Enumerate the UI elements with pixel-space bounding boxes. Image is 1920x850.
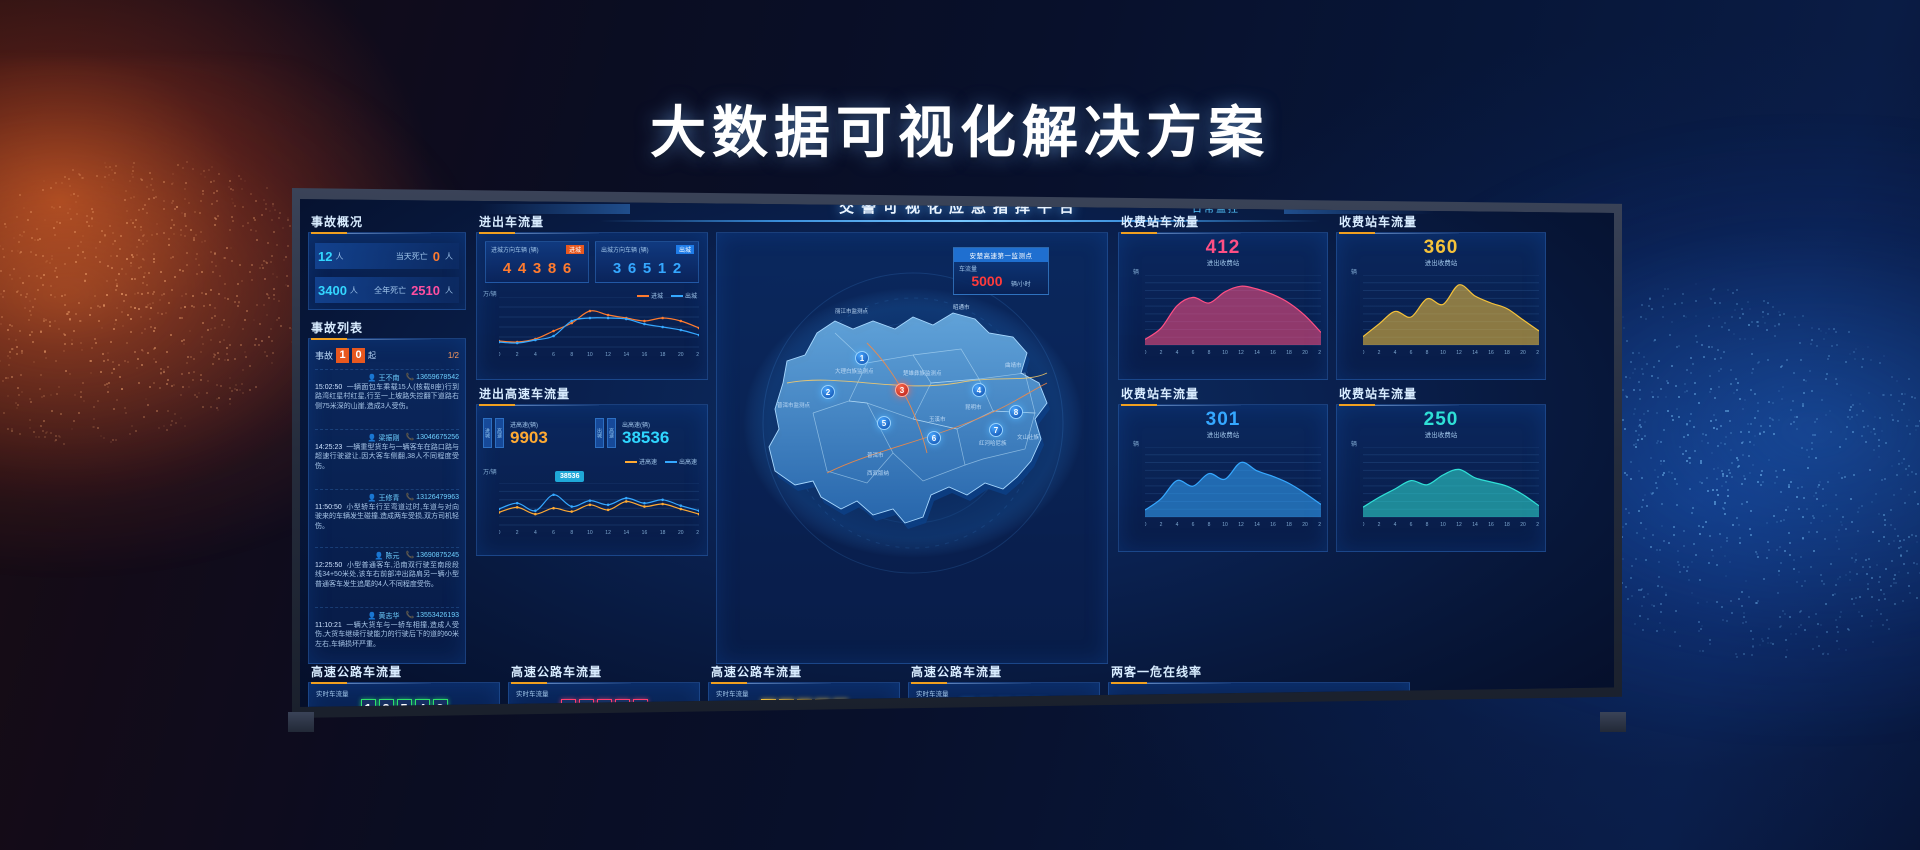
svg-text:4: 4 (534, 530, 537, 536)
digit-3: 1 (655, 260, 670, 277)
svg-text:10: 10 (587, 352, 593, 358)
digit-4: 2 (670, 260, 685, 277)
panel-title-toll-2: 收费站车流量 (1339, 213, 1417, 230)
svg-text:18: 18 (1286, 350, 1292, 356)
accident-description: 11:10:21 一辆大货车与一轿车相撞,造成人受伤,大货车继续行驶能力的行驶后… (315, 621, 459, 649)
toll-2-readout: 360 进出收费站 (1337, 237, 1545, 267)
svg-text:2: 2 (1160, 522, 1163, 528)
svg-text:14: 14 (1472, 350, 1478, 356)
svg-text:4: 4 (534, 352, 537, 358)
highway-out-chip-1: 出城 (595, 418, 604, 448)
svg-text:8: 8 (1208, 522, 1211, 528)
svg-text:14: 14 (1472, 522, 1478, 528)
svg-text:12: 12 (1456, 522, 1462, 528)
panel-title-highway-2: 高速公路车流量 (511, 663, 602, 680)
inout-hw-y-unit: 万/辆 (483, 467, 497, 476)
svg-text:4: 4 (1176, 522, 1179, 528)
svg-text:20: 20 (1520, 350, 1526, 356)
toll-4-label: 进出收费站 (1337, 429, 1545, 439)
panel-title-inout-flow: 进出车流量 (479, 213, 544, 230)
toll-2-y-unit: 辆 (1351, 267, 1357, 276)
highway-chart-tooltip: 38536 (555, 471, 584, 482)
inout-highway-legend: 进高速出高速 (625, 457, 697, 466)
toll-3-value: 301 (1206, 409, 1241, 430)
map-tooltip-label: 车流量 (954, 262, 1048, 273)
map-region-label: 文山壮族 (1017, 433, 1039, 441)
chart-line (499, 318, 699, 343)
map-region-label: 大理白族监测点 (835, 367, 874, 375)
accident-description: 14:25:23 一辆重型货车与一辆客车在路口路与超速行驶避让,因大客车侧翻,3… (315, 443, 459, 471)
svg-text:14: 14 (1254, 522, 1260, 528)
map-tooltip-unit: 辆/小时 (1011, 282, 1031, 288)
svg-text:12: 12 (1238, 522, 1244, 528)
map-marker-8[interactable]: 8 (1009, 405, 1023, 419)
legend-item: 进高速 (625, 457, 657, 466)
svg-text:22: 22 (1318, 350, 1321, 356)
toll-3-readout: 301 进出收费站 (1119, 409, 1327, 439)
inout-highway-chart: 5432100246810121416182022时 (499, 483, 699, 537)
accident-list-item[interactable]: 👤 王不南📞 1365967854215:02:50 一辆面包车乘载15人(核载… (315, 369, 459, 411)
accident-reporter: 👤 黄志华 (368, 611, 400, 621)
svg-text:10: 10 (1440, 522, 1446, 528)
toll-2-label: 进出收费站 (1337, 257, 1545, 267)
highway-in-value: 9903 (510, 429, 548, 446)
dashboard: 交警可视化应急指挥平台 日常监控 南山 ☁ ■ 2018-0 事故概况 12 人… (300, 196, 1614, 710)
highway-out-chip-2: 高速 (607, 418, 616, 448)
svg-text:14: 14 (623, 352, 629, 358)
outbound-vehicle-box: 出城方向车辆 (辆) 出城 36512 (595, 241, 699, 283)
map-marker-6[interactable]: 6 (927, 431, 941, 445)
chartToll0-svg: 5004504003503002502001501005002468101214… (1145, 275, 1321, 357)
accident-phone: 📞 13659678542 (406, 373, 459, 383)
svg-text:14: 14 (1254, 350, 1260, 356)
chartToll1-svg: 5004504003503002502001501005002468101214… (1363, 275, 1539, 357)
svg-text:20: 20 (678, 530, 684, 536)
svg-text:6: 6 (552, 352, 555, 358)
panel-inout-flow: 进出车流量 进城方向车辆 (辆) 进城 44386 出城方向车辆 (辆) 出城 … (476, 232, 708, 380)
toll-4-readout: 250 进出收费站 (1337, 409, 1545, 439)
accident-list-header: 事故 1 0 起 1/2 (315, 345, 459, 365)
svg-text:16: 16 (642, 352, 648, 358)
accident-list-item[interactable]: 👤 梁振刚📞 1304667525614:25:23 一辆重型货车与一辆客车在路… (315, 429, 459, 471)
chartInoutHw-svg: 5432100246810121416182022时 (499, 483, 699, 537)
map-region-label: 红河哈尼族 (979, 439, 1007, 447)
panel-title-highway-4: 高速公路车流量 (911, 663, 1002, 680)
chartToll2-svg: 5004504003503002502001501005002468101214… (1145, 447, 1321, 529)
svg-text:12: 12 (605, 352, 611, 358)
svg-text:18: 18 (660, 530, 666, 536)
svg-text:2: 2 (516, 530, 519, 536)
accident-count-digit-1: 0 (352, 348, 365, 363)
svg-text:12: 12 (1456, 350, 1462, 356)
panel-title-highway-1: 高速公路车流量 (311, 663, 402, 680)
svg-text:10: 10 (1222, 350, 1228, 356)
panel-title-toll-1: 收费站车流量 (1121, 213, 1199, 230)
map-tooltip-value: 5000 (971, 273, 1002, 289)
svg-text:18: 18 (1286, 522, 1292, 528)
map-region-label: 曲靖市 (1005, 361, 1022, 369)
svg-text:2: 2 (1378, 522, 1381, 528)
svg-text:10: 10 (1440, 350, 1446, 356)
toll-4-value: 250 (1424, 409, 1459, 430)
svg-text:20: 20 (1302, 522, 1308, 528)
panel-title-toll-3: 收费站车流量 (1121, 385, 1199, 402)
map-region-label: 昭通市 (953, 303, 970, 311)
highway-2-realtime-label: 实时车流量 (516, 688, 549, 698)
wall-stand-left (288, 712, 314, 732)
svg-text:8: 8 (570, 530, 573, 536)
panel-accident-overview: 事故概况 12 人 当天死亡 0 人 3400 人 全年死亡 2510 (308, 232, 466, 310)
svg-text:22: 22 (696, 352, 699, 358)
accident-overview-row-year: 3400 人 全年死亡 2510 人 (315, 277, 459, 303)
digit-2: 5 (640, 260, 655, 277)
svg-text:2: 2 (1160, 350, 1163, 356)
map-tooltip-title: 安楚高速第一监测点 (954, 248, 1048, 262)
accident-description: 12:25:50 小型普通客车,沿南双行驶至南段段线34+50米处,该车右前部冲… (315, 561, 459, 589)
svg-text:8: 8 (1426, 522, 1429, 528)
svg-text:0: 0 (1363, 350, 1365, 356)
svg-text:18: 18 (1504, 350, 1510, 356)
svg-text:14: 14 (623, 530, 629, 536)
svg-text:0: 0 (1145, 522, 1147, 528)
toll-1-value: 412 (1206, 237, 1241, 258)
page-title: 大数据可视化解决方案 (650, 88, 1270, 169)
video-wall-screen: 交警可视化应急指挥平台 日常监控 南山 ☁ ■ 2018-0 事故概况 12 人… (300, 196, 1614, 710)
svg-text:16: 16 (1488, 522, 1494, 528)
inbound-digits: 44386 (486, 260, 588, 278)
year-injured-count: 3400 (318, 283, 347, 298)
svg-text:16: 16 (1270, 350, 1276, 356)
year-dead-unit: 人 (445, 285, 453, 296)
svg-text:4: 4 (1176, 350, 1179, 356)
map-region-label: 丽江市监测点 (835, 307, 868, 315)
map-marker-4[interactable]: 4 (972, 383, 986, 397)
accident-overview-row-today: 12 人 当天死亡 0 人 (315, 243, 459, 269)
today-dead-count: 0 (433, 249, 440, 264)
svg-text:12: 12 (1238, 350, 1244, 356)
video-wall: 交警可视化应急指挥平台 日常监控 南山 ☁ ■ 2018-0 事故概况 12 人… (292, 188, 1622, 718)
digit-1: 4 (515, 260, 530, 277)
today-injured-count: 12 (318, 249, 332, 264)
svg-text:2: 2 (516, 352, 519, 358)
digit-1: 6 (625, 260, 640, 277)
toll-3-label: 进出收费站 (1119, 429, 1327, 439)
chart-area (1145, 286, 1321, 345)
svg-text:4: 4 (1394, 350, 1397, 356)
year-injured-unit: 人 (350, 285, 358, 296)
panel-toll-station-1: 收费站车流量 412 进出收费站 辆 500450400350300250200… (1118, 232, 1328, 380)
panel-map: 安楚高速第一监测点 车流量 5000 辆/小时 12345678 丽江市监测点昭… (716, 232, 1108, 664)
toll-4-chart: 5004504003503002502001501005002468101214… (1363, 447, 1539, 529)
svg-text:12: 12 (605, 530, 611, 536)
svg-text:8: 8 (1208, 350, 1211, 356)
accident-list-item[interactable]: 👤 陈元📞 1369087524512:25:50 小型普通客车,沿南双行驶至南… (315, 547, 459, 589)
panel-title-highway-3: 高速公路车流量 (711, 663, 802, 680)
legend-item: 出高速 (665, 457, 697, 466)
map-marker-2[interactable]: 2 (821, 385, 835, 399)
accident-reporter: 👤 梁振刚 (368, 433, 400, 443)
svg-text:6: 6 (1192, 350, 1195, 356)
today-injured-unit: 人 (335, 251, 343, 262)
map-region-label: 普洱市 (867, 451, 884, 459)
svg-text:16: 16 (642, 530, 648, 536)
panel-title-accident-list: 事故列表 (311, 319, 363, 336)
map-shape (717, 233, 1109, 665)
panel-title-online-rate: 两客一危在线率 (1111, 663, 1202, 680)
map-canvas[interactable] (717, 233, 1107, 663)
toll-1-label: 进出收费站 (1119, 257, 1327, 267)
svg-text:18: 18 (660, 352, 666, 358)
svg-text:18: 18 (1504, 522, 1510, 528)
svg-text:0: 0 (499, 530, 501, 536)
highway-3-realtime-label: 实时车流量 (716, 688, 749, 698)
svg-text:16: 16 (1488, 350, 1494, 356)
svg-text:6: 6 (552, 530, 555, 536)
map-marker-1[interactable]: 1 (855, 351, 869, 365)
svg-text:20: 20 (1302, 350, 1308, 356)
svg-text:20: 20 (678, 352, 684, 358)
panel-title-accident-overview: 事故概况 (311, 213, 363, 230)
accident-count-unit: 起 (368, 350, 376, 361)
chart-area (1363, 469, 1539, 517)
highway-in-chip-2: 高速 (495, 418, 504, 448)
inbound-tag: 进城 (566, 245, 584, 254)
svg-text:6: 6 (1192, 522, 1195, 528)
svg-text:20: 20 (1520, 522, 1526, 528)
svg-text:4: 4 (1394, 522, 1397, 528)
toll-2-value: 360 (1424, 237, 1459, 258)
accident-description: 11:50:50 小型轿车行至弯道过时,车道与对向驶来的车辆发生碰撞,造成两车受… (315, 503, 459, 531)
page-title-wrap: 大数据可视化解决方案 (0, 88, 1920, 169)
svg-text:6: 6 (1410, 350, 1413, 356)
accident-phone: 📞 13046675256 (406, 433, 459, 443)
accident-phone: 📞 13690875245 (406, 551, 459, 561)
accident-count-digit-0: 1 (336, 348, 349, 363)
map-region-label: 玉溪市 (929, 415, 946, 423)
today-dead-label: 当天死亡 (396, 251, 428, 262)
toll-1-y-unit: 辆 (1133, 267, 1139, 276)
accident-phone: 📞 13126479963 (406, 493, 459, 503)
accident-reporter: 👤 王不南 (368, 373, 400, 383)
svg-text:10: 10 (1222, 522, 1228, 528)
header-underline (600, 220, 1320, 222)
outbound-label: 出城方向车辆 (辆) (601, 245, 649, 254)
highway-in-chip-1: 进城 (483, 418, 492, 448)
year-dead-count: 2510 (411, 283, 440, 298)
svg-text:0: 0 (499, 352, 501, 358)
svg-text:2: 2 (1378, 350, 1381, 356)
svg-text:0: 0 (1363, 522, 1365, 528)
panel-inout-highway: 进出高速车流量 进城 高速 进高速(辆) 9903 出城 高速 出高速(辆) 3… (476, 404, 708, 556)
svg-text:22: 22 (1318, 522, 1321, 528)
digit-4: 6 (560, 260, 575, 277)
outbound-tag: 出城 (676, 245, 694, 254)
map-region-label: 西双版纳 (867, 469, 889, 477)
highway-in-group: 进城 高速 进高速(辆) 9903 (483, 413, 548, 453)
map-marker-7[interactable]: 7 (989, 423, 1003, 437)
highway-out-group: 出城 高速 出高速(辆) 38536 (595, 413, 669, 453)
map-region-label: 楚雄彝族监测点 (903, 369, 942, 377)
wall-stand-right (1600, 712, 1626, 732)
panel-title-inout-highway: 进出高速车流量 (479, 385, 570, 402)
accident-list-pager[interactable]: 1/2 (448, 351, 459, 360)
highway-out-value: 38536 (622, 429, 669, 446)
inbound-label: 进城方向车辆 (辆) (491, 245, 539, 254)
map-region-label: 普洱市监测点 (777, 401, 810, 409)
panel-toll-station-4: 收费站车流量 250 进出收费站 辆 500450400350300250200… (1336, 404, 1546, 552)
toll-2-chart: 5004504003503002502001501005002468101214… (1363, 275, 1539, 357)
chartInout-svg: 5432100246810121416182022时 (499, 297, 699, 359)
accident-list-item[interactable]: 👤 黄志华📞 1355342619311:10:21 一辆大货车与一轿车相撞,造… (315, 607, 459, 649)
digit-0: 3 (610, 260, 625, 277)
svg-text:22: 22 (1536, 350, 1539, 356)
toll-1-chart: 5004504003503002502001501005002468101214… (1145, 275, 1321, 357)
map-marker-5[interactable]: 5 (877, 416, 891, 430)
digit-2: 3 (530, 260, 545, 277)
accident-reporter: 👤 王修青 (368, 493, 400, 503)
digit-3: 8 (545, 260, 560, 277)
toll-3-y-unit: 辆 (1133, 439, 1139, 448)
svg-text:22: 22 (696, 530, 699, 536)
map-region-label: 昆明市 (965, 403, 982, 411)
svg-text:10: 10 (587, 530, 593, 536)
accident-reporter: 👤 陈元 (375, 551, 400, 561)
inout-y-unit: 万/辆 (483, 289, 497, 298)
accident-count-label: 事故 (315, 349, 333, 362)
toll-3-chart: 5004504003503002502001501005002468101214… (1145, 447, 1321, 529)
outbound-digits: 36512 (596, 260, 698, 278)
svg-text:22: 22 (1536, 522, 1539, 528)
highway-4-realtime-label: 实时车流量 (916, 688, 949, 698)
panel-toll-station-3: 收费站车流量 301 进出收费站 辆 500450400350300250200… (1118, 404, 1328, 552)
svg-text:6: 6 (1410, 522, 1413, 528)
map-marker-3[interactable]: 3 (895, 383, 909, 397)
year-dead-label: 全年死亡 (374, 285, 406, 296)
panel-toll-station-2: 收费站车流量 360 进出收费站 辆 500450400350300250200… (1336, 232, 1546, 380)
panel-accident-list: 事故列表 事故 1 0 起 1/2 👤 王不南📞 1365967854215:0… (308, 338, 466, 664)
inbound-vehicle-box: 进城方向车辆 (辆) 进城 44386 (485, 241, 589, 283)
accident-description: 15:02:50 一辆面包车乘载15人(核载8座)行到路湾红星村红星,行至一上坡… (315, 383, 459, 411)
highway-1-realtime-label: 实时车流量 (316, 688, 349, 698)
panel-title-toll-4: 收费站车流量 (1339, 385, 1417, 402)
accident-phone: 📞 13553426193 (406, 611, 459, 621)
inout-flow-chart: 5432100246810121416182022时 (499, 297, 699, 359)
svg-text:8: 8 (1426, 350, 1429, 356)
svg-text:16: 16 (1270, 522, 1276, 528)
accident-list-item[interactable]: 👤 王修青📞 1312647996311:50:50 小型轿车行至弯道过时,车道… (315, 489, 459, 531)
digit-0: 4 (500, 260, 515, 277)
chartToll3-svg: 5004504003503002502001501005002468101214… (1363, 447, 1539, 529)
toll-1-readout: 412 进出收费站 (1119, 237, 1327, 267)
svg-text:0: 0 (1145, 350, 1147, 356)
today-dead-unit: 人 (445, 251, 453, 262)
toll-4-y-unit: 辆 (1351, 439, 1357, 448)
svg-text:8: 8 (570, 352, 573, 358)
map-tooltip: 安楚高速第一监测点 车流量 5000 辆/小时 (953, 247, 1049, 295)
